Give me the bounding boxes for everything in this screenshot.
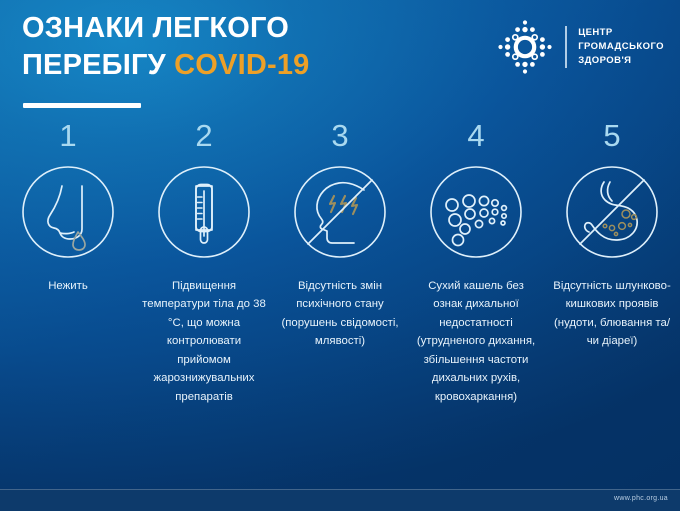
infographic-poster: Ознаки легкого перебігу COVID-19 <box>0 0 680 511</box>
symptom-number: 3 <box>331 120 348 158</box>
head-lightning-crossed-icon <box>292 164 388 260</box>
stomach-crossed-icon <box>564 164 660 260</box>
symptom-list: 1 Нежить 2 <box>0 120 680 406</box>
symptom-caption: Підвищення температури тіла до 38 °C, що… <box>142 277 266 406</box>
symptom-number: 4 <box>467 120 484 158</box>
symptom-item-1: 1 Нежить <box>0 120 136 406</box>
symptom-item-3: 3 Відсутність змін психічного стану (пор… <box>272 120 408 406</box>
symptom-caption: Нежить <box>6 277 130 295</box>
title-underline-rule <box>23 103 141 108</box>
symptom-item-2: 2 Підвищення темпера <box>136 120 272 406</box>
public-health-center-logo-icon <box>494 16 556 78</box>
symptom-caption: Відсутність змін психічного стану (поруш… <box>278 277 402 351</box>
page-title: Ознаки легкого перебігу COVID-19 <box>22 10 442 84</box>
logo-text-line-2: Громадського <box>578 41 664 52</box>
symptom-item-4: 4 <box>408 120 544 406</box>
footer-url[interactable]: www.phc.org.ua <box>614 495 668 502</box>
symptom-item-5: 5 Від <box>544 120 680 406</box>
symptom-caption: Сухий кашель без ознак дихальної недоста… <box>414 277 538 406</box>
logo-text: Центр Громадського Здоров'я <box>578 26 664 67</box>
logo-text-line-3: Здоров'я <box>578 55 631 66</box>
symptom-number: 2 <box>195 120 212 158</box>
title-line-1: Ознаки легкого <box>22 12 289 44</box>
cough-droplets-icon <box>428 164 524 260</box>
nose-drip-icon <box>20 164 116 260</box>
thermometer-icon <box>156 164 252 260</box>
title-covid-accent: COVID-19 <box>174 49 309 81</box>
symptom-number: 1 <box>59 120 76 158</box>
title-line-2: перебігу <box>22 49 174 81</box>
footer-bar: www.phc.org.ua <box>0 489 680 511</box>
logo: Центр Громадського Здоров'я <box>494 16 664 78</box>
symptom-caption: Відсутність шлунково-кишкових проявів (н… <box>550 277 674 351</box>
symptom-number: 5 <box>603 120 620 158</box>
logo-divider <box>565 26 567 68</box>
logo-text-line-1: Центр <box>578 27 613 38</box>
